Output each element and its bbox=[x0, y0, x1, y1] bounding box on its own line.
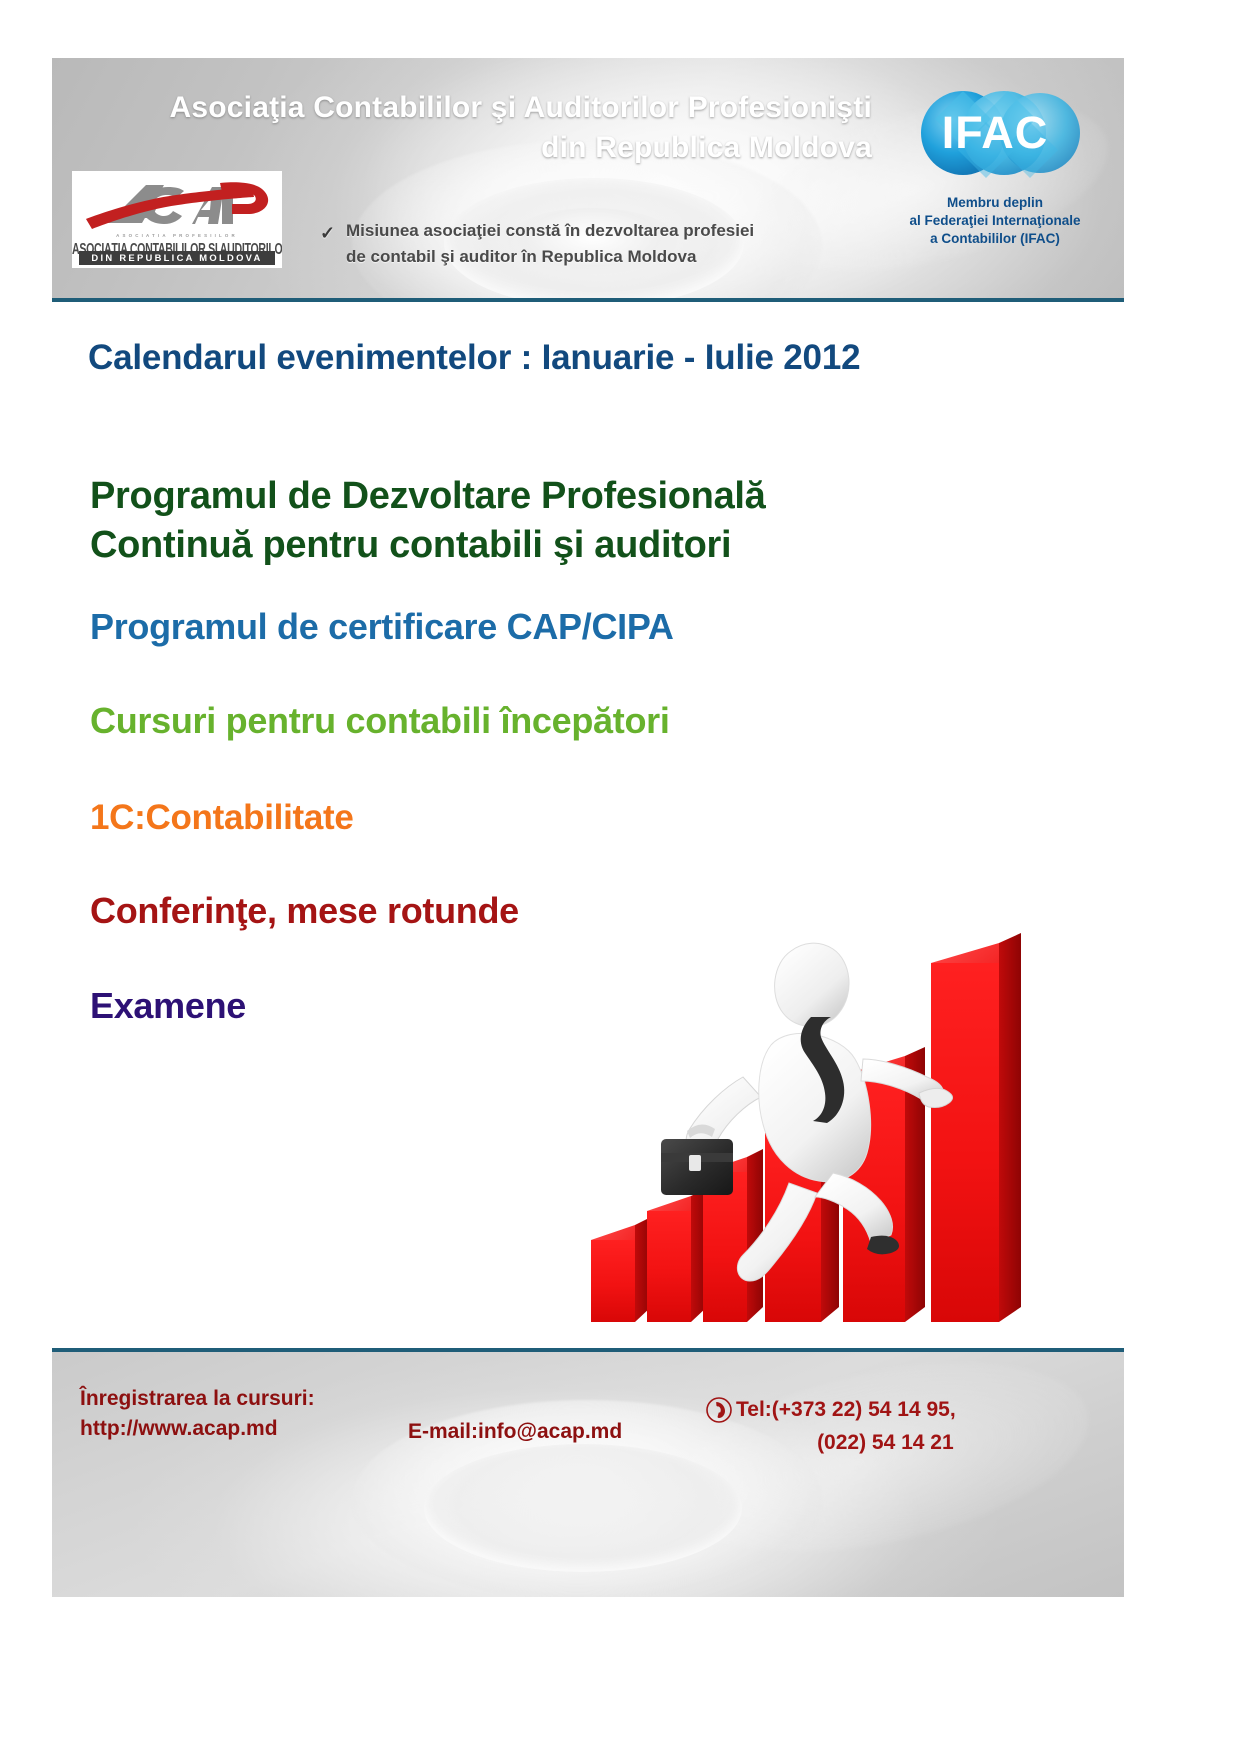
mission-statement: ✓ Misiunea asociaţiei constă în dezvolta… bbox=[320, 218, 880, 269]
bar-group-2 bbox=[647, 1188, 707, 1322]
header-divider-rule bbox=[52, 298, 1124, 302]
section-pddc-line2: Continuă pentru contabili şi auditori bbox=[90, 521, 766, 570]
ifac-logo: IFAC bbox=[908, 78, 1083, 188]
ifac-caption-line3: a Contabililor (IFAC) bbox=[888, 230, 1102, 248]
organization-title: Asociaţia Contabililor şi Auditorilor Pr… bbox=[112, 88, 872, 167]
header-band: Asociaţia Contabililor şi Auditorilor Pr… bbox=[52, 58, 1124, 298]
svg-text:IFAC: IFAC bbox=[941, 107, 1048, 158]
poster-page: Asociaţia Contabililor şi Auditorilor Pr… bbox=[0, 0, 1240, 1755]
telephone-line1: Tel:(+373 22) 54 14 95, bbox=[736, 1394, 956, 1427]
acap-logo-line3: DIN REPUBLICA MOLDOVA bbox=[79, 251, 275, 265]
registration-label: Înregistrarea la cursuri: bbox=[80, 1384, 315, 1414]
ifac-block: IFAC Membru deplin al Federaţiei Interna… bbox=[888, 78, 1102, 249]
growth-illustration bbox=[575, 925, 1095, 1335]
mission-line1: Misiunea asociaţiei constă în dezvoltare… bbox=[346, 218, 880, 244]
ifac-caption-line2: al Federaţiei Internaţionale bbox=[888, 212, 1102, 230]
organization-title-line2: din Republica Moldova bbox=[112, 128, 872, 168]
section-exams: Examene bbox=[90, 985, 246, 1027]
ifac-caption-line1: Membru deplin bbox=[888, 194, 1102, 212]
telephone-info: Tel:(+373 22) 54 14 95, (022) 54 14 21 bbox=[705, 1394, 956, 1459]
email-link[interactable]: E-mail:info@acap.md bbox=[408, 1420, 622, 1444]
section-cap-cipa-certification: Programul de certificare CAP/CIPA bbox=[90, 606, 674, 648]
bar-group-6 bbox=[931, 933, 1021, 1322]
section-professional-development: Programul de Dezvoltare Profesională Con… bbox=[90, 472, 766, 569]
ifac-logo-mark: IFAC bbox=[908, 78, 1083, 188]
mission-line2: de contabil şi auditor în Republica Mold… bbox=[346, 244, 880, 270]
section-pddc-line1: Programul de Dezvoltare Profesională bbox=[90, 472, 766, 521]
section-1c-accounting: 1C:Contabilitate bbox=[90, 798, 354, 838]
organization-title-line1: Asociaţia Contabililor şi Auditorilor Pr… bbox=[112, 88, 872, 128]
page-bottom-margin bbox=[0, 1600, 1240, 1755]
page-title: Calendarul evenimentelor : Ianuarie - Iu… bbox=[88, 338, 860, 378]
ifac-caption: Membru deplin al Federaţiei Internaţiona… bbox=[888, 194, 1102, 249]
acap-logo-tagline: ASOCIATIA PROFESIILOR bbox=[72, 233, 282, 238]
website-link[interactable]: http://www.acap.md bbox=[80, 1414, 315, 1444]
bar-group-1 bbox=[591, 1217, 651, 1322]
telephone-line2: (022) 54 14 21 bbox=[705, 1427, 956, 1460]
check-icon: ✓ bbox=[320, 220, 335, 247]
running-businessman-bars-graphic bbox=[575, 925, 1095, 1335]
registration-info: Înregistrarea la cursuri: http://www.aca… bbox=[80, 1384, 315, 1445]
section-conferences-roundtables: Conferinţe, mese rotunde bbox=[90, 890, 519, 932]
acap-logo-mark bbox=[72, 173, 282, 235]
footer-decor-swirl-2 bbox=[424, 1444, 742, 1572]
section-beginner-courses: Cursuri pentru contabili începători bbox=[90, 700, 670, 742]
acap-logo: ASOCIATIA PROFESIILOR ASOCIAŢIA CONTABIL… bbox=[72, 171, 282, 268]
phone-icon bbox=[705, 1396, 733, 1424]
